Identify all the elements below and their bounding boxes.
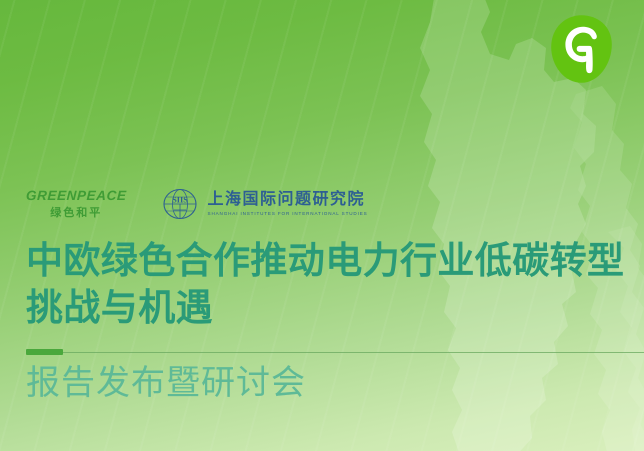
siis-logo: SIIS 上海国际问题研究院 SHANGHAI INSTITUTES FOR I… [163,188,368,220]
greenpeace-g-logo [550,14,613,84]
event-banner: GREENPEACE 绿色和平 SIIS 上海国际问题研究院 SHANGHAI … [0,0,644,451]
greenpeace-name-en: GREENPEACE [26,189,127,203]
title-line-2: 挑战与机遇 [26,285,634,332]
siis-name-cn: 上海国际问题研究院 [208,192,368,208]
divider-accent-stub [26,349,63,355]
partner-logo-row: GREENPEACE 绿色和平 SIIS 上海国际问题研究院 SHANGHAI … [26,188,368,220]
divider-hairline [26,352,644,353]
title-line-1: 中欧绿色合作推动电力行业低碳转型 [26,238,634,285]
svg-text:SIIS: SIIS [172,196,188,205]
banner-title: 中欧绿色合作推动电力行业低碳转型 挑战与机遇 [26,238,634,331]
siis-globe-icon: SIIS [163,188,197,220]
banner-subtitle: 报告发布暨研讨会 [26,362,306,405]
title-divider [26,349,644,355]
siis-name-en: SHANGHAI INSTITUTES FOR INTERNATIONAL ST… [208,212,368,217]
greenpeace-wordmark: GREENPEACE 绿色和平 [26,189,127,219]
greenpeace-name-cn: 绿色和平 [50,208,102,219]
